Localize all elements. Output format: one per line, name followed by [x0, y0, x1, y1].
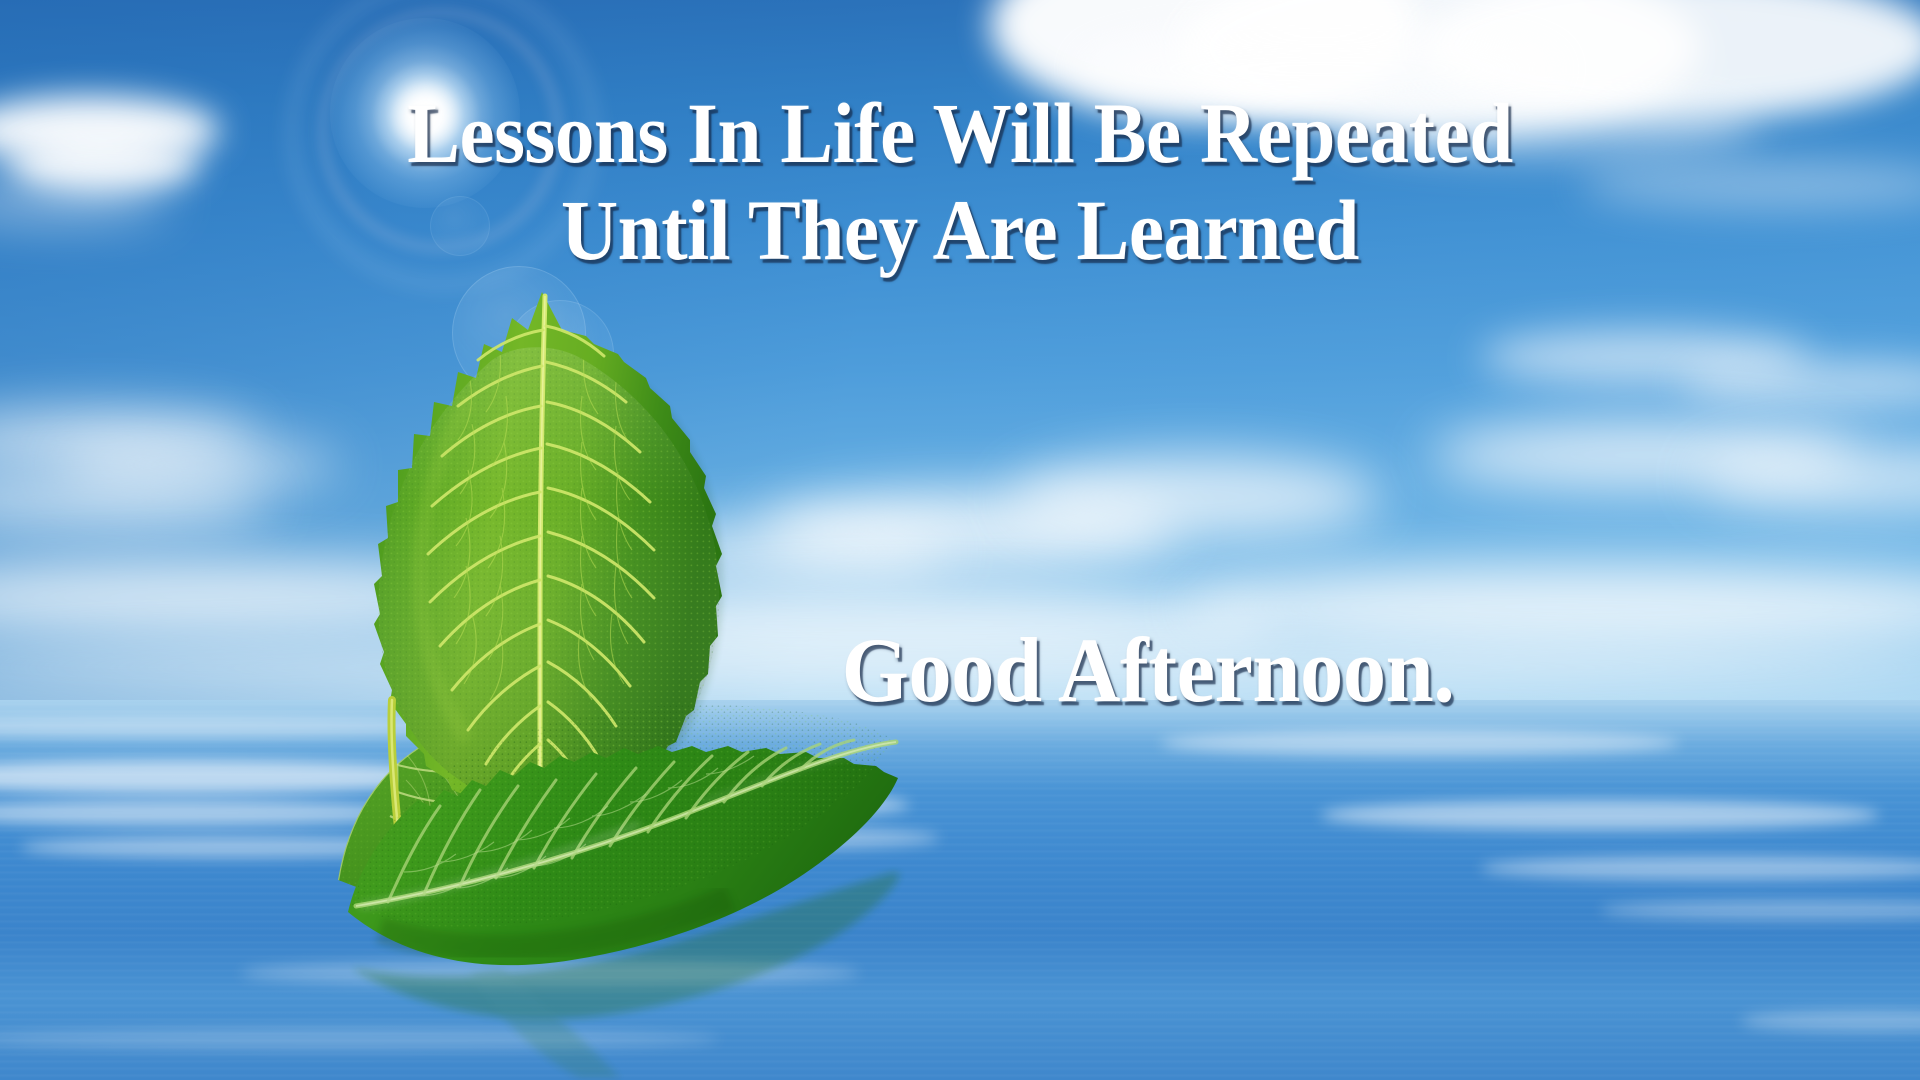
greeting-text: Good Afternoon.	[246, 618, 1920, 722]
greeting-card-scene: Lessons In Life Will Be Repeated Until T…	[0, 0, 1920, 1080]
water-ripple-texture	[0, 700, 1920, 1080]
water-reflection-right-b	[1320, 800, 1880, 830]
water-reflection-center-b	[560, 826, 940, 850]
quote-line-1: Lessons In Life Will Be Repeated	[77, 85, 1843, 181]
lens-flare-bubble-5	[592, 476, 642, 526]
water-reflection-center-a	[470, 790, 910, 820]
water-reflection-sun	[240, 960, 860, 986]
cloud-mid-center-b	[620, 520, 950, 582]
water-reflection-left-c	[20, 836, 440, 858]
cloud-mid-center-c	[1010, 455, 1380, 539]
quote-line-2: Until They Are Learned	[77, 182, 1843, 278]
water-reflection-right-a	[1160, 730, 1680, 756]
